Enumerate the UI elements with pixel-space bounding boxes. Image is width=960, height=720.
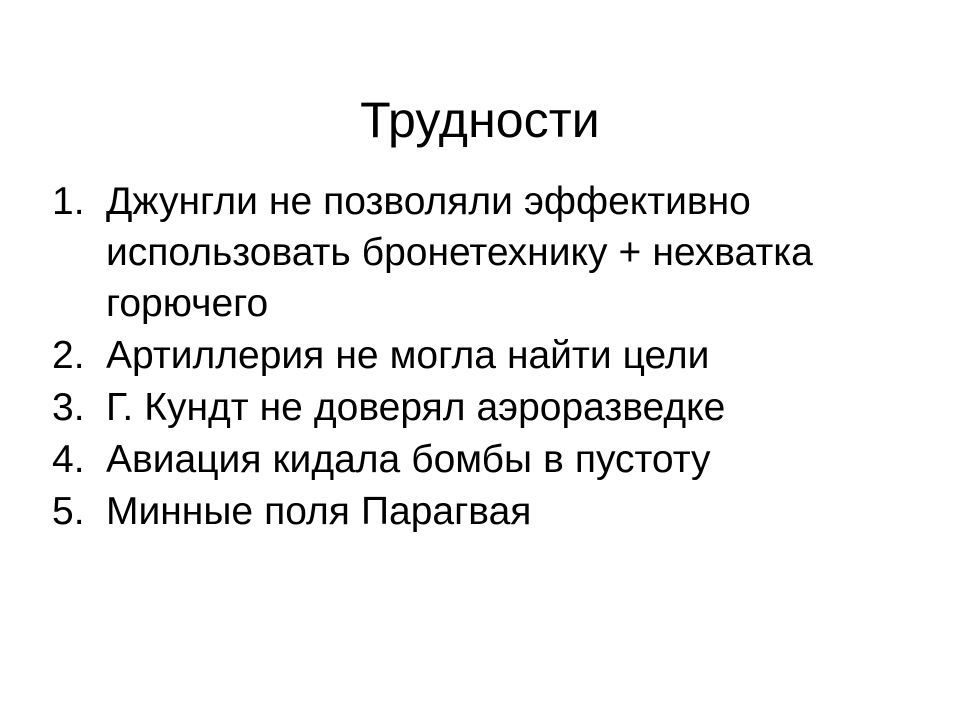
list-item: 5. Минные поля Парагвая (52, 486, 872, 537)
list-item-text: Г. Кундт не доверял аэроразведке (106, 382, 822, 433)
list-item-marker: 5. (52, 486, 106, 537)
list-item: 2. Артиллерия не могла найти цели (52, 330, 872, 381)
list-item-marker: 1. (52, 176, 106, 227)
list-item-marker: 3. (52, 382, 106, 433)
slide-body-content: 1. Джунгли не позволяли эффективно испол… (52, 176, 872, 538)
list-item-text: Джунгли не позволяли эффективно использо… (106, 176, 822, 329)
numbered-list: 1. Джунгли не позволяли эффективно испол… (52, 176, 872, 537)
presentation-slide: Трудности 1. Джунгли не позволяли эффект… (0, 0, 960, 720)
slide-title: Трудности (0, 90, 960, 150)
list-item: 3. Г. Кундт не доверял аэроразведке (52, 382, 872, 433)
list-item: 4. Авиация кидала бомбы в пустоту (52, 434, 872, 485)
list-item-text: Авиация кидала бомбы в пустоту (106, 434, 822, 485)
list-item-text: Минные поля Парагвая (106, 486, 822, 537)
list-item-marker: 2. (52, 330, 106, 381)
list-item-text: Артиллерия не могла найти цели (106, 330, 822, 381)
list-item: 1. Джунгли не позволяли эффективно испол… (52, 176, 872, 329)
list-item-marker: 4. (52, 434, 106, 485)
